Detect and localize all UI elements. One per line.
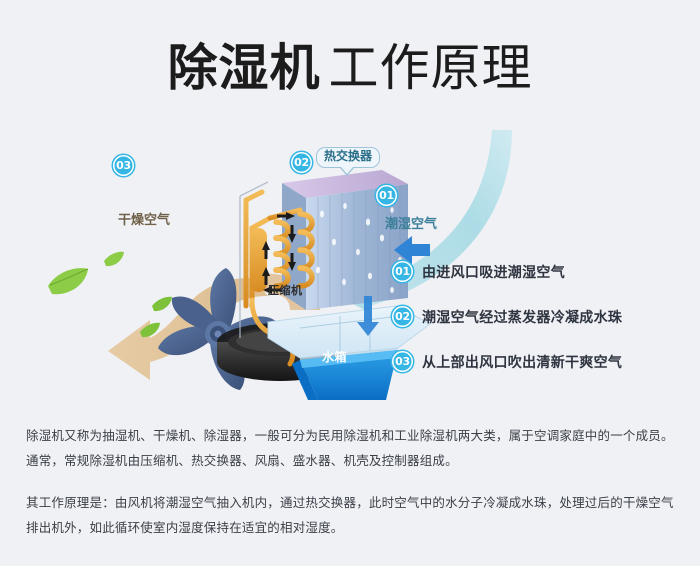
callout-heat-exchanger: 热交换器 bbox=[316, 147, 380, 168]
step-badge-01: 01 bbox=[392, 261, 413, 282]
page-title: 除湿机工作原理 bbox=[0, 28, 700, 100]
step-text-01: 由进风口吸进潮湿空气 bbox=[422, 262, 565, 282]
paragraph-1: 除湿机又称为抽湿机、干燥机、除湿器，一般可分为民用除湿机和工业除湿机两大类，属于… bbox=[26, 423, 676, 473]
leaf-icons bbox=[48, 252, 172, 337]
title-part-1: 除湿机 bbox=[168, 39, 321, 97]
step-item-03: 03 从上部出风口吹出清新干爽空气 bbox=[392, 345, 692, 378]
title-part-2: 工作原理 bbox=[329, 39, 533, 97]
step-item-02: 02 潮湿空气经过蒸发器冷凝成水珠 bbox=[392, 300, 692, 333]
badge-dry-air: 03 bbox=[113, 155, 134, 176]
step-text-03: 从上部出风口吹出清新干爽空气 bbox=[422, 352, 622, 372]
badge-heat-exchanger: 02 bbox=[291, 152, 312, 173]
step-text-02: 潮湿空气经过蒸发器冷凝成水珠 bbox=[422, 307, 622, 327]
steps-list: 01 由进风口吸进潮湿空气 02 潮湿空气经过蒸发器冷凝成水珠 03 从上部出风… bbox=[392, 255, 692, 390]
step-badge-03: 03 bbox=[392, 351, 413, 372]
infographic-page: 除湿机工作原理 bbox=[0, 0, 700, 566]
step-item-01: 01 由进风口吸进潮湿空气 bbox=[392, 255, 692, 288]
body-copy: 除湿机又称为抽湿机、干燥机、除湿器，一般可分为民用除湿机和工业除湿机两大类，属于… bbox=[26, 423, 676, 540]
paragraph-2: 其工作原理是：由风机将潮湿空气抽入机内，通过热交换器，此时空气中的水分子冷凝成水… bbox=[26, 490, 676, 540]
step-badge-02: 02 bbox=[392, 306, 413, 327]
badge-humid-air: 01 bbox=[376, 185, 397, 206]
